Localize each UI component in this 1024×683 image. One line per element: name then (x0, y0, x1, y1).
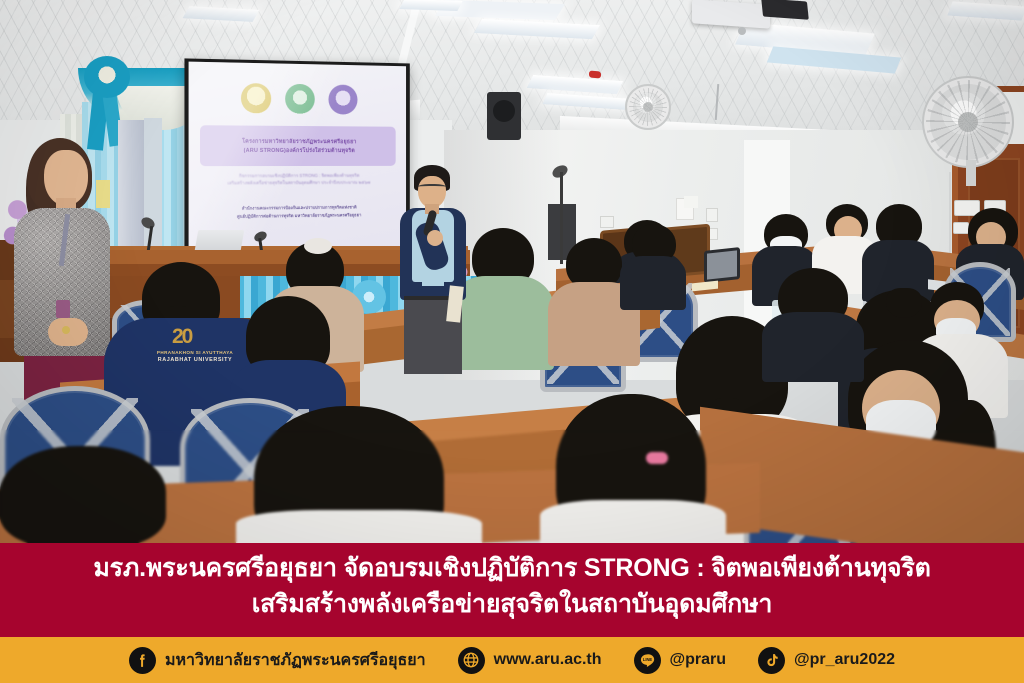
tiktok-icon[interactable] (758, 647, 785, 674)
screenshot-root: โครงการมหาวิทยาลัยราชภัฏพระนครศรีอยุธยา … (0, 0, 1024, 683)
uniform-logo-line2: RAJABHAT UNIVERSITY (146, 357, 244, 363)
wall-speaker (487, 92, 521, 140)
footer-item-website[interactable]: www.aru.ac.th (442, 647, 618, 674)
headline-line-2: เสริมสร้างพลังเครือข่ายสุจริตในสถาบันอุด… (0, 583, 1024, 619)
headline-line-1: มรภ.พระนครศรีอยุธยา จัดอบรมเชิงปฏิบัติกา… (0, 543, 1024, 583)
wall-outlet (600, 216, 614, 228)
projector-lens (738, 27, 746, 35)
footer-label-tiktok: @pr_aru2022 (794, 651, 895, 669)
eyeglasses-icon (418, 184, 446, 191)
uniform-logo-number: 20 (172, 326, 214, 352)
fan-mount (966, 160, 976, 186)
footer-item-facebook[interactable]: มหาวิทยาลัยราชภัฏพระนครศรีอยุธยา (113, 647, 442, 674)
headline-banner: มรภ.พระนครศรีอยุธยา จัดอบรมเชิงปฏิบัติกา… (0, 543, 1024, 637)
wall-plate (96, 180, 110, 208)
footer-label-facebook: มหาวิทยาลัยราชภัฏพระนครศรีอยุธยา (165, 648, 426, 673)
event-photograph: โครงการมหาวิทยาลัยราชภัฏพระนครศรีอยุธยา … (0, 0, 1024, 543)
wall-fan-icon (922, 76, 1014, 168)
hair-tie (646, 452, 668, 464)
uniform-logo-line1: PHRANAKHON SI AYUTTHAYA (146, 350, 244, 356)
tablet-device (704, 247, 740, 283)
wall-outlet (706, 208, 718, 222)
wall-fan-icon (625, 84, 671, 130)
microphone-stand (560, 172, 563, 264)
curtain-rosette (84, 56, 130, 98)
projector-mount (761, 0, 809, 20)
footer-label-line: @praru (670, 651, 727, 669)
id-badge (56, 300, 70, 318)
footer-item-tiktok[interactable]: @pr_aru2022 (742, 647, 911, 674)
footer-label-website: www.aru.ac.th (494, 651, 602, 669)
globe-icon[interactable] (458, 647, 485, 674)
wall-notice (684, 196, 698, 208)
footer-item-line[interactable]: LINE @praru (618, 647, 743, 674)
svg-text:LINE: LINE (642, 656, 652, 661)
screen-glare (189, 62, 406, 259)
light-switch (953, 222, 969, 234)
line-icon[interactable]: LINE (634, 647, 661, 674)
social-footer-bar: มหาวิทยาลัยราชภัฏพระนครศรีอยุธยา www.aru… (0, 637, 1024, 683)
smoke-detector-icon (589, 71, 601, 79)
facebook-icon[interactable] (129, 647, 156, 674)
